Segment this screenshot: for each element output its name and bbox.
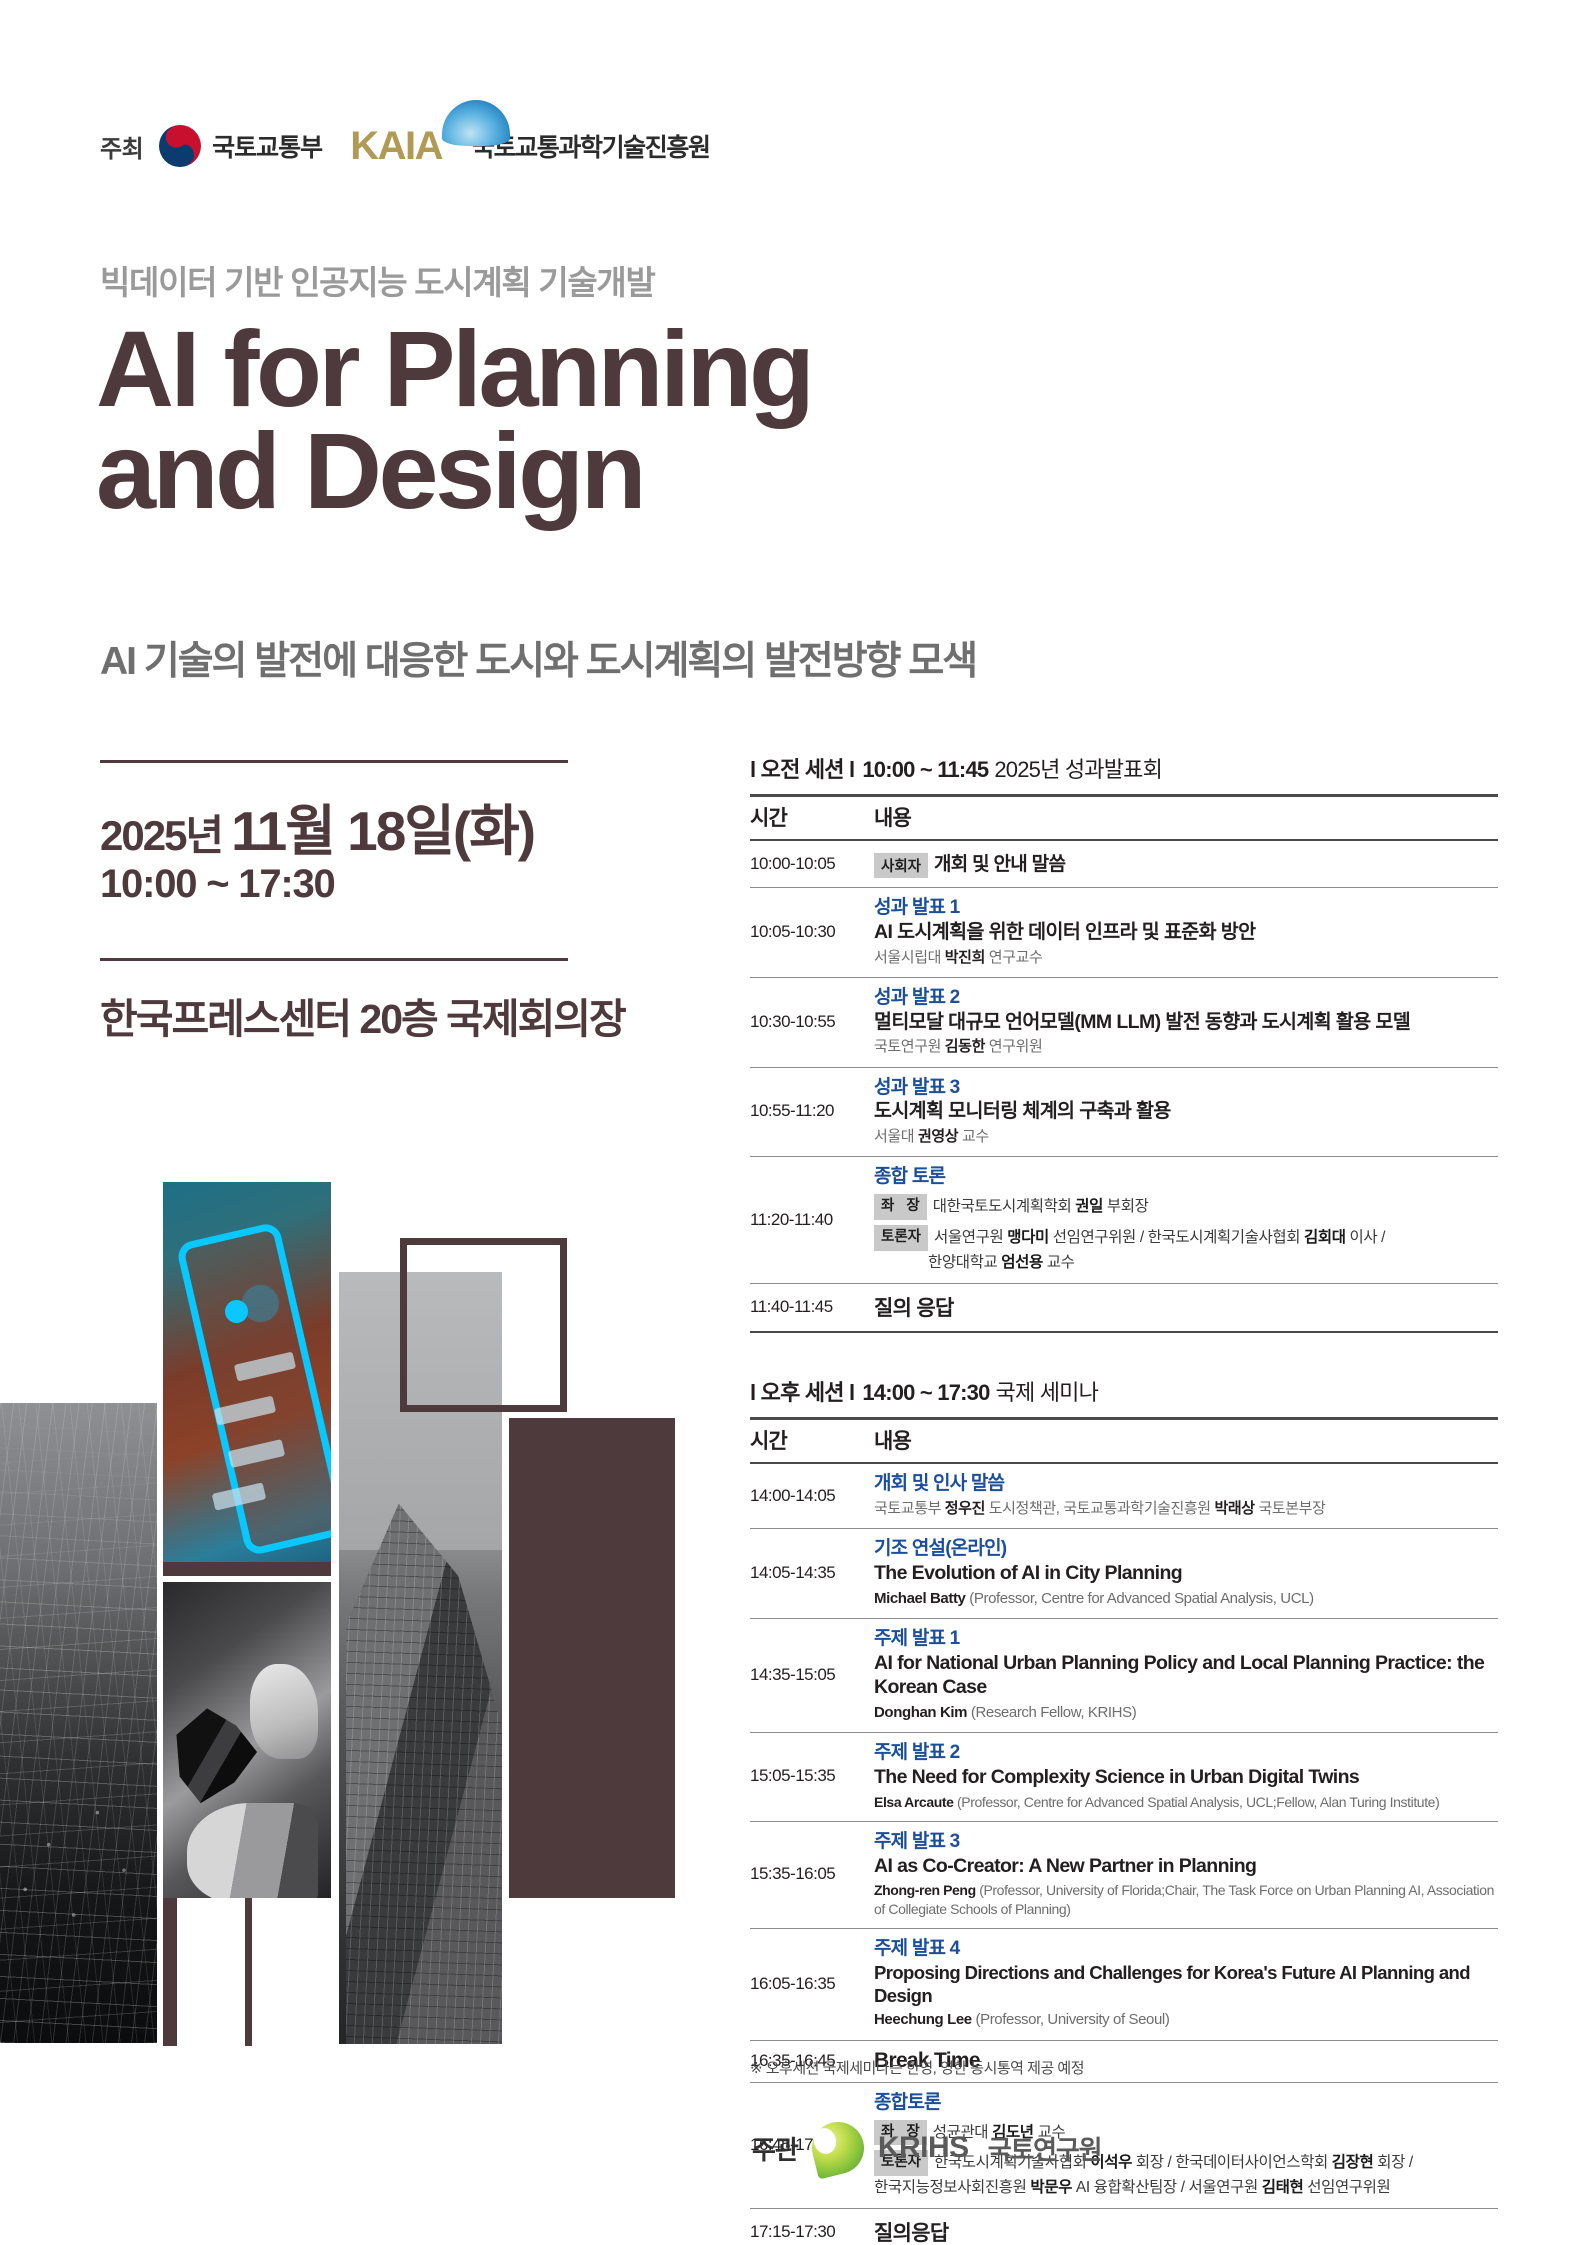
sponsor-row: 주관 KRIHS 국토연구원 xyxy=(752,2122,1101,2174)
table-row: 10:00-10:05 사회자개회 및 안내 말씀 xyxy=(750,840,1498,888)
project-eyebrow: 빅데이터 기반 인공지능 도시계획 기술개발 xyxy=(100,256,655,304)
night-city-photo xyxy=(0,1403,157,2043)
row-title: 멀티모달 대규모 언어모델(MM LLM) 발전 동향과 도시계획 활용 모델 xyxy=(874,1010,1498,1035)
taegeuk-icon xyxy=(157,123,203,169)
row-time: 15:35-16:05 xyxy=(750,1821,874,1928)
table-row: 15:05-15:35 주제 발표 2 The Need for Complex… xyxy=(750,1733,1498,1821)
row-title: AI as Co-Creator: A New Partner in Plann… xyxy=(874,1854,1498,1879)
row-time: 11:20-11:40 xyxy=(750,1157,874,1284)
speaker-org: 서울시립대 xyxy=(874,949,945,966)
row-title: The Need for Complexity Science in Urban… xyxy=(874,1765,1498,1790)
afternoon-session-name: 국제 세미나 xyxy=(996,1380,1099,1405)
table-header-row: 시간 내용 xyxy=(750,796,1498,841)
panelist-org: 서울연구원 xyxy=(934,1229,1007,1246)
row-content: 성과 발표 1 AI 도시계획을 위한 데이터 인프라 및 표준화 방안 서울시… xyxy=(874,888,1498,978)
row-title: 질의 응답 xyxy=(874,1297,954,1320)
title-line-2: and Design xyxy=(96,420,811,522)
speaker-name: 정우진 xyxy=(945,1500,985,1517)
speaker-name: Michael Batty xyxy=(874,1590,966,1607)
panelist-title: 회장 / xyxy=(1373,2154,1412,2171)
row-time: 17:15-17:30 xyxy=(750,2209,874,2245)
panelist-org: 한국지능정보사회진흥원 xyxy=(874,2179,1030,2196)
speaker-name: Zhong-ren Peng xyxy=(874,1882,976,1898)
speaker-org: 국토교통부 xyxy=(874,1500,945,1517)
row-label: 기조 연설(온라인) xyxy=(874,1537,1498,1561)
col-header-time: 시간 xyxy=(750,1418,874,1463)
morning-session-heading: l 오전 세션 l10:00 ~ 11:452025년 성과발표회 xyxy=(750,752,1498,784)
afternoon-session-tag: l 오후 세션 l xyxy=(750,1380,854,1405)
row-time: 10:00-10:05 xyxy=(750,840,874,888)
speaker-affiliation: (Research Fellow, KRIHS) xyxy=(967,1704,1136,1721)
krihs-korean-name: 국토연구원 xyxy=(988,2130,1102,2167)
row-time: 15:05-15:35 xyxy=(750,1733,874,1821)
col-header-content: 내용 xyxy=(874,796,1498,841)
panelist-name: 김태현 xyxy=(1262,2179,1304,2196)
kaia-wordmark: KAIA xyxy=(350,126,442,166)
col-header-content: 내용 xyxy=(874,1418,1498,1463)
panelist-name: 김회대 xyxy=(1304,1229,1346,1246)
chair-title: 부회장 xyxy=(1103,1198,1149,1215)
panelist-badge: 토론자 xyxy=(874,1225,928,1251)
row-title: 개회 및 안내 말씀 xyxy=(934,854,1065,875)
row-speaker: Donghan Kim (Research Fellow, KRIHS) xyxy=(874,1703,1498,1723)
morning-session-name: 2025년 성과발표회 xyxy=(994,757,1162,782)
row-time: 14:35-15:05 xyxy=(750,1618,874,1732)
row-content: 성과 발표 3 도시계획 모니터링 체계의 구축과 활용 서울대 권영상 교수 xyxy=(874,1067,1498,1157)
speaker-name: Heechung Lee xyxy=(874,2011,972,2028)
row-speaker: 서울대 권영상 교수 xyxy=(874,1127,1498,1147)
plum-accent-bar-left xyxy=(163,1898,177,2046)
row-content: 성과 발표 2 멀티모달 대규모 언어모델(MM LLM) 발전 동향과 도시계… xyxy=(874,977,1498,1067)
speaker-affiliation: (Professor, Centre for Advanced Spatial … xyxy=(954,1794,1440,1810)
row-speaker: Zhong-ren Peng (Professor, University of… xyxy=(874,1881,1498,1919)
table-header-row: 시간 내용 xyxy=(750,1418,1498,1463)
row-time: 14:05-14:35 xyxy=(750,1529,874,1619)
row-title: The Evolution of AI in City Planning xyxy=(874,1561,1498,1586)
row-content: 주제 발표 1 AI for National Urban Planning P… xyxy=(874,1618,1498,1732)
speaker-org: 국토연구원 xyxy=(874,1038,945,1055)
speaker-affiliation: (Professor, Centre for Advanced Spatial … xyxy=(966,1590,1314,1607)
conference-poster: 주최 국토교통부 KAIA 국토교통과학기술진흥원 빅데이터 기반 인공지능 도… xyxy=(0,0,1587,2245)
morning-session-time: 10:00 ~ 11:45 xyxy=(862,757,988,782)
row-time: 14:00-14:05 xyxy=(750,1463,874,1529)
row-title: AI 도시계획을 위한 데이터 인프라 및 표준화 방안 xyxy=(874,920,1498,945)
panelist-line-2: 한양대학교 엄선용 교수 xyxy=(874,1251,1498,1274)
phone-outline xyxy=(175,1221,331,1556)
decorative-frame xyxy=(400,1238,567,1412)
row-title: 도시계획 모니터링 체계의 구축과 활용 xyxy=(874,1099,1498,1124)
plum-accent-bar xyxy=(163,1562,331,1576)
afternoon-session-heading: l 오후 세션 l14:00 ~ 17:30국제 세미나 xyxy=(750,1375,1498,1407)
row-speaker: Heechung Lee (Professor, University of S… xyxy=(874,2010,1498,2030)
robot-arm-body xyxy=(187,1803,318,1898)
table-row: 14:05-14:35 기조 연설(온라인) The Evolution of … xyxy=(750,1529,1498,1619)
row-label: 주제 발표 3 xyxy=(874,1830,1498,1854)
panelist-name: 박문우 xyxy=(1030,2179,1072,2196)
panelist-line: 토론자서울연구원 맹다미 선임연구위원 / 한국도시계획기술사협회 김회대 이사… xyxy=(874,1225,1498,1274)
row-time: 10:30-10:55 xyxy=(750,977,874,1067)
title-line-1: AI for Planning xyxy=(96,318,811,420)
morning-schedule-table: 시간 내용 10:00-10:05 사회자개회 및 안내 말씀 10:05-10… xyxy=(750,794,1498,1333)
col-header-time: 시간 xyxy=(750,796,874,841)
tower-shape xyxy=(346,1504,502,2044)
row-time: 11:40-11:45 xyxy=(750,1283,874,1332)
page-title: AI for Planning and Design xyxy=(96,318,811,521)
table-row: 15:35-16:05 주제 발표 3 AI as Co-Creator: A … xyxy=(750,1821,1498,1928)
row-time: 10:05-10:30 xyxy=(750,888,874,978)
host-label: 주최 xyxy=(100,129,143,164)
sponsor-label: 주관 xyxy=(752,2130,798,2167)
row-title: Proposing Directions and Challenges for … xyxy=(874,1961,1498,2008)
footnote: ※ 오후세션 국제세미나는 한영, 영한 동시통역 제공 예정 xyxy=(750,2057,1084,2078)
speaker-title: 연구교수 xyxy=(985,949,1042,966)
panelist-title: 선임연구위원 / 한국도시계획기술사협회 xyxy=(1049,1229,1304,1246)
panelist-title: 이사 / xyxy=(1346,1229,1385,1246)
chair-name: 권일 xyxy=(1075,1198,1103,1215)
molit-name: 국토교통부 xyxy=(212,128,322,164)
event-venue: 한국프레스센터 20층 국제회의장 xyxy=(100,985,625,1045)
speaker-name: 김동한 xyxy=(945,1038,985,1055)
robot-arm-photo xyxy=(163,1582,331,1898)
speaker-name: 박진희 xyxy=(945,949,985,966)
speaker-org: 서울대 xyxy=(874,1128,918,1145)
table-row: 10:30-10:55 성과 발표 2 멀티모달 대규모 언어모델(MM LLM… xyxy=(750,977,1498,1067)
panelist-name: 김장현 xyxy=(1332,2154,1374,2171)
row-time: 10:55-11:20 xyxy=(750,1067,874,1157)
human-hand xyxy=(250,1664,317,1759)
row-speaker: 서울시립대 박진희 연구교수 xyxy=(874,948,1498,968)
speaker-name: 박래상 xyxy=(1214,1500,1254,1517)
speaker-affiliation: (Professor, University of Seoul) xyxy=(972,2011,1170,2028)
table-row: 16:05-16:35 주제 발표 4 Proposing Directions… xyxy=(750,1928,1498,2040)
table-row: 10:55-11:20 성과 발표 3 도시계획 모니터링 체계의 구축과 활용… xyxy=(750,1067,1498,1157)
krihs-leaf-icon xyxy=(806,2116,869,2179)
panelist-name: 엄선용 xyxy=(1001,1254,1043,1271)
speaker-name: Elsa Arcaute xyxy=(874,1794,954,1810)
speaker-title: 교수 xyxy=(958,1128,989,1145)
table-row: 14:00-14:05 개회 및 인사 말씀 국토교통부 정우진 도시정책관, … xyxy=(750,1463,1498,1529)
row-title: AI for National Urban Planning Policy an… xyxy=(874,1651,1498,1700)
row-speaker: Michael Batty (Professor, Centre for Adv… xyxy=(874,1589,1498,1609)
divider-top xyxy=(100,760,568,763)
table-row: 17:15-17:30 질의응답 xyxy=(750,2209,1498,2245)
panelist-org: 한양대학교 xyxy=(928,1254,1001,1271)
speaker-title: 국토본부장 xyxy=(1255,1500,1326,1517)
row-title: 질의응답 xyxy=(874,2222,948,2245)
row-label: 주제 발표 2 xyxy=(874,1741,1498,1765)
row-content: 사회자개회 및 안내 말씀 xyxy=(874,840,1498,888)
morning-session-tag: l 오전 세션 l xyxy=(750,757,854,782)
chair-org: 대한국토도시계획학회 xyxy=(933,1198,1076,1215)
row-label: 개회 및 인사 말씀 xyxy=(874,1472,1498,1496)
row-content: 개회 및 인사 말씀 국토교통부 정우진 도시정책관, 국토교통과학기술진흥원 … xyxy=(874,1463,1498,1529)
row-label: 종합 토론 xyxy=(874,1165,1498,1189)
plum-accent-bar-right xyxy=(245,1898,252,2046)
row-speaker: 국토교통부 정우진 도시정책관, 국토교통과학기술진흥원 박래상 국토본부장 xyxy=(874,1499,1498,1519)
row-label: 주제 발표 1 xyxy=(874,1627,1498,1651)
row-content: 질의 응답 xyxy=(874,1283,1498,1332)
krihs-wordmark: KRIHS xyxy=(878,2131,969,2165)
row-content: 주제 발표 2 The Need for Complexity Science … xyxy=(874,1733,1498,1821)
program-column: l 오전 세션 l10:00 ~ 11:452025년 성과발표회 시간 내용 … xyxy=(750,752,1498,2245)
role-badge: 사회자 xyxy=(874,853,928,878)
page-subtitle: AI 기술의 발전에 대응한 도시와 도시계획의 발전방향 모색 xyxy=(100,630,976,686)
row-content: 기조 연설(온라인) The Evolution of AI in City P… xyxy=(874,1529,1498,1619)
speaker-title: 도시정책관, 국토교통과학기술진흥원 xyxy=(985,1500,1214,1517)
event-day: 11월 18일(화) xyxy=(231,800,534,862)
row-label: 성과 발표 1 xyxy=(874,896,1498,920)
divider-bottom xyxy=(100,958,568,961)
row-content: 주제 발표 3 AI as Co-Creator: A New Partner … xyxy=(874,1821,1498,1928)
table-row: 14:35-15:05 주제 발표 1 AI for National Urba… xyxy=(750,1618,1498,1732)
panelist-title: 교수 xyxy=(1043,1254,1075,1271)
panelist-title: 선임연구위원 xyxy=(1303,2179,1390,2196)
row-time: 16:05-16:35 xyxy=(750,1928,874,2040)
event-time: 10:00 ~ 17:30 xyxy=(100,862,335,907)
table-row: 10:05-10:30 성과 발표 1 AI 도시계획을 위한 데이터 인프라 … xyxy=(750,888,1498,978)
table-row: 11:20-11:40 종합 토론 좌 장대한국토도시계획학회 권일 부회장 토… xyxy=(750,1157,1498,1284)
kaia-logo: KAIA 국토교통과학기술진흥원 xyxy=(350,126,709,166)
robot-gripper xyxy=(176,1708,257,1803)
molit-logo: 국토교통부 xyxy=(157,123,322,169)
event-date: 2025년11월 18일(화) xyxy=(100,786,534,866)
panelist-title: AI 융합확산팀장 / 서울연구원 xyxy=(1072,2179,1262,2196)
row-content: 주제 발표 4 Proposing Directions and Challen… xyxy=(874,1928,1498,2040)
event-year: 2025년 xyxy=(100,812,222,859)
row-label: 종합토론 xyxy=(874,2091,1498,2115)
afternoon-session-time: 14:00 ~ 17:30 xyxy=(862,1380,989,1405)
panelist-name: 맹다미 xyxy=(1007,1229,1049,1246)
table-row: 11:40-11:45 질의 응답 xyxy=(750,1283,1498,1332)
chatbot-phone-photo xyxy=(163,1182,331,1574)
section-spacer xyxy=(750,1333,1498,1375)
row-label: 주제 발표 4 xyxy=(874,1937,1498,1961)
chair-badge: 좌 장 xyxy=(874,1194,927,1220)
speaker-name: Donghan Kim xyxy=(874,1704,967,1721)
panelist-title: 회장 / 한국데이터사이언스학회 xyxy=(1132,2154,1332,2171)
panelist-line-2: 한국지능정보사회진흥원 박문우 AI 융합확산팀장 / 서울연구원 김태현 선임… xyxy=(874,2176,1498,2199)
row-content: 종합 토론 좌 장대한국토도시계획학회 권일 부회장 토론자서울연구원 맹다미 … xyxy=(874,1157,1498,1284)
row-content: 질의응답 xyxy=(874,2209,1498,2245)
row-speaker: Elsa Arcaute (Professor, Centre for Adva… xyxy=(874,1793,1498,1812)
row-label: 성과 발표 3 xyxy=(874,1076,1498,1100)
afternoon-schedule-table: 시간 내용 14:00-14:05 개회 및 인사 말씀 국토교통부 정우진 도… xyxy=(750,1417,1498,2245)
row-speaker: 국토연구원 김동한 연구위원 xyxy=(874,1037,1498,1057)
speaker-title: 연구위원 xyxy=(985,1038,1042,1055)
speaker-name: 권영상 xyxy=(918,1128,958,1145)
host-logo-row: 주최 국토교통부 KAIA 국토교통과학기술진흥원 xyxy=(100,118,710,174)
chair-line: 좌 장대한국토도시계획학회 권일 부회장 xyxy=(874,1194,1498,1220)
kaia-swoosh-icon xyxy=(442,100,510,146)
row-label: 성과 발표 2 xyxy=(874,986,1498,1010)
decorative-plum-block xyxy=(509,1418,675,1898)
